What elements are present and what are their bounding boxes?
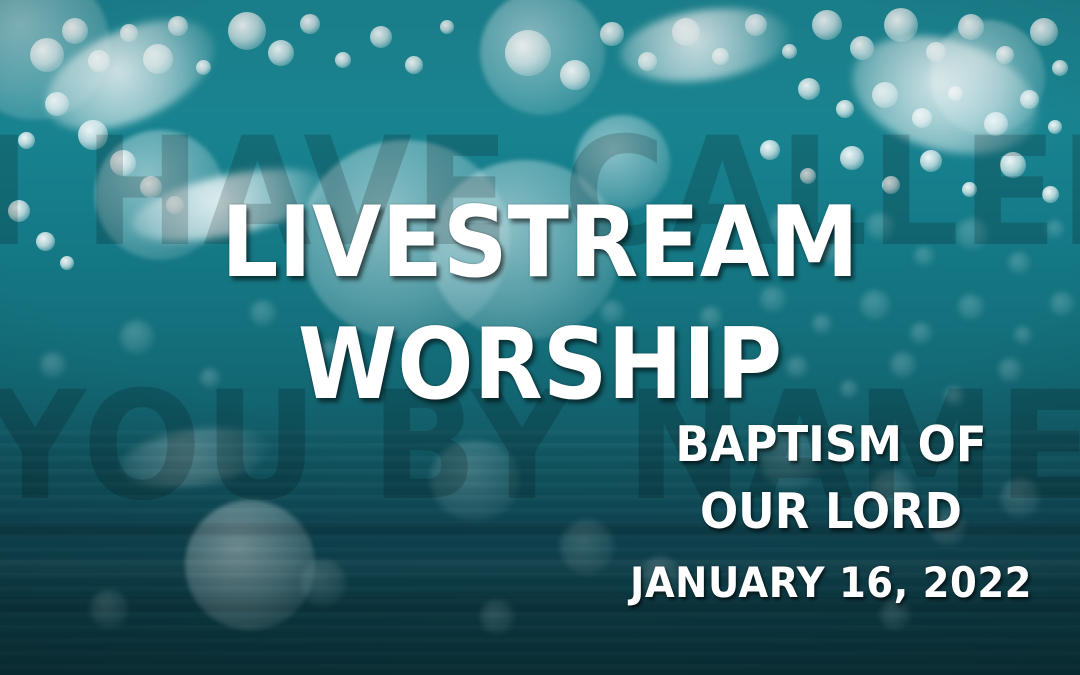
occasion-line-1: BAPTISM OF (591, 420, 1070, 469)
service-date: JANUARY 16, 2022 (591, 562, 1070, 604)
slide-title-line-2: WORSHIP (0, 318, 1080, 412)
occasion-line-2: OUR LORD (591, 487, 1070, 536)
slide-title-line-1: LIVESTREAM (0, 196, 1080, 290)
livestream-worship-slide: I HAVE CALLED YOU BY NAME LIVESTREAM WOR… (0, 0, 1080, 675)
